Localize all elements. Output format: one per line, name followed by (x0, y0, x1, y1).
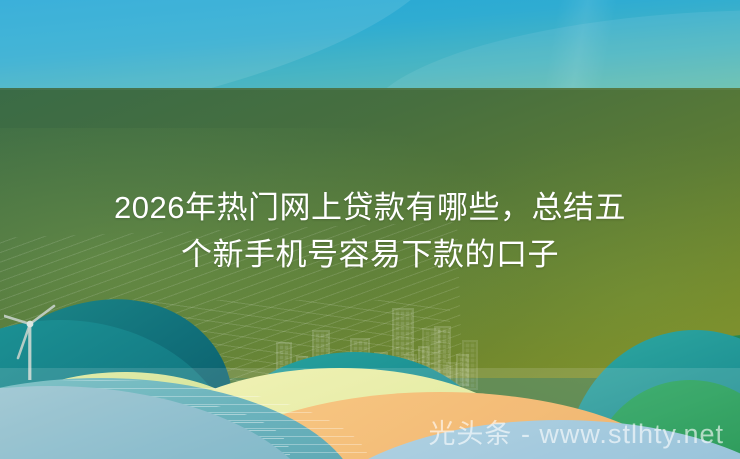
building (462, 340, 478, 390)
sky-background (0, 0, 740, 95)
wind-turbine-icon (4, 302, 62, 382)
cover-image: 2026年热门网上贷款有哪些，总结五 个新手机号容易下款的口子 光头条 - ww… (0, 0, 740, 459)
cover-title: 2026年热门网上贷款有哪些，总结五 个新手机号容易下款的口子 (0, 184, 740, 278)
site-watermark: 光头条 - www.stlhty.net (428, 412, 724, 451)
sky-light-ray (480, 0, 660, 95)
